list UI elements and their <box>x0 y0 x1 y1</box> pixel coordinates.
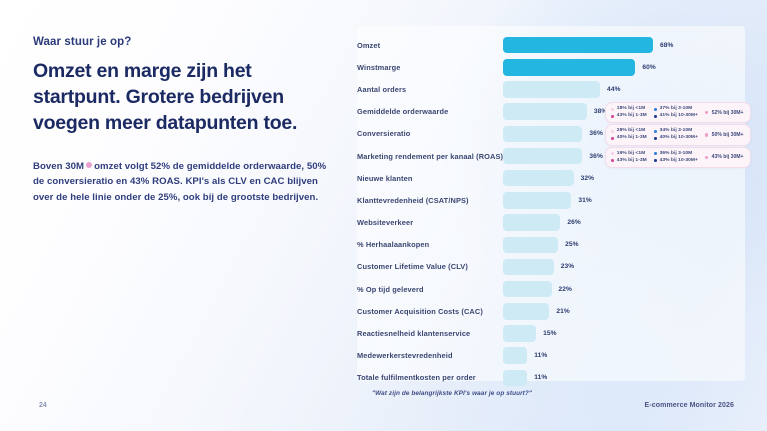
bar-area: 31% <box>503 189 745 211</box>
legend-dot-icon <box>654 115 657 118</box>
chart-row: % Op tijd geleverd22% <box>357 278 745 300</box>
bar <box>503 192 571 209</box>
bar-label: Conversieratio <box>357 129 503 138</box>
slide-text-column: Waar stuur je op? Omzet en marge zijn he… <box>33 36 333 205</box>
bar-label: Winstmarge <box>357 63 503 72</box>
bar-label: % Herhaalaankopen <box>357 240 503 249</box>
bar-label: Omzet <box>357 41 503 50</box>
bar-label: Reactiesnelheid klantenservice <box>357 329 503 338</box>
callout-segment: 18% bij <1M <box>611 106 647 112</box>
legend-dot-icon <box>611 108 614 111</box>
callout-segment: 43% bij 1-3M <box>611 158 647 164</box>
callout-segment: 40% bij 1-3M <box>611 135 647 141</box>
callout-highlight: 52% bij 30M+ <box>705 110 744 116</box>
bar <box>503 103 587 120</box>
bar-area: 68% <box>503 34 745 56</box>
chart-row: Winstmarge60% <box>357 56 745 78</box>
bar-area: 26% <box>503 212 745 234</box>
bar-label: Customer Acquisition Costs (CAC) <box>357 307 503 316</box>
bar-value-label: 36% <box>589 130 603 137</box>
callout-segment-label: 43% bij 10-30M+ <box>660 158 698 164</box>
legend-dot-icon <box>654 108 657 111</box>
footer-brand: E-commerce Monitor 2026 <box>645 402 734 409</box>
bar-label: % Op tijd geleverd <box>357 285 503 294</box>
bar-label: Medewerkerstevredenheid <box>357 351 503 360</box>
page-number: 24 <box>39 402 47 409</box>
chart-row: Customer Lifetime Value (CLV)23% <box>357 256 745 278</box>
callout-segment: 28% bij <1M <box>611 128 647 134</box>
segment-callout[interactable]: 28% bij <1M34% bij 3-10M40% bij 1-3M40% … <box>605 124 751 145</box>
callout-segment: 43% bij 1-3M <box>611 113 647 119</box>
chart-row: Klanttevredenheid (CSAT/NPS)31% <box>357 189 745 211</box>
bar <box>503 126 582 143</box>
legend-dot-icon <box>654 137 657 140</box>
legend-dot-icon <box>654 152 657 155</box>
bar-value-label: 25% <box>565 241 579 248</box>
callout-segment-label: 40% bij 10-30M+ <box>660 135 698 141</box>
bar <box>503 325 536 342</box>
callout-highlight: 50% bij 30M+ <box>705 132 744 138</box>
bar-area: 11% <box>503 367 745 389</box>
legend-dot-icon <box>654 130 657 133</box>
bar-area: 11% <box>503 345 745 367</box>
bar <box>503 59 635 76</box>
callout-highlight-label: 52% bij 30M+ <box>712 110 744 116</box>
callout-segment-label: 28% bij <1M <box>617 128 645 134</box>
bar-label: Aantal orders <box>357 85 503 94</box>
callout-segment-label: 37% bij 3-10M <box>660 106 693 112</box>
callout-segment-label: 43% bij 1-3M <box>617 113 647 119</box>
segment-callout[interactable]: 18% bij <1M37% bij 3-10M43% bij 1-3M41% … <box>605 102 751 123</box>
page-title: Omzet en marge zijn het startpunt. Grote… <box>33 59 333 137</box>
bar-area: 21% <box>503 300 745 322</box>
eyebrow-text: Waar stuur je op? <box>33 36 333 48</box>
legend-dot-icon <box>611 115 614 118</box>
legend-dot-icon <box>611 152 614 155</box>
bar-value-label: 21% <box>556 308 570 315</box>
callout-segment-label: 43% bij 1-3M <box>617 158 647 164</box>
bar-area: 44% <box>503 78 745 100</box>
bar <box>503 281 552 298</box>
callout-segment-label: 41% bij 10-30M+ <box>660 113 698 119</box>
bar <box>503 303 549 320</box>
legend-dot-icon <box>654 159 657 162</box>
callout-segment-grid: 28% bij <1M34% bij 3-10M40% bij 1-3M40% … <box>611 128 698 141</box>
callout-segment: 19% bij <1M <box>611 151 647 157</box>
bar-value-label: 31% <box>578 197 592 204</box>
chart-caption: "Wat zijn de belangrijkste KPI's waar je… <box>372 390 532 397</box>
chart-row: Nieuwe klanten32% <box>357 167 745 189</box>
chart-row: Aantal orders44% <box>357 78 745 100</box>
callout-segment-label: 19% bij <1M <box>617 151 645 157</box>
legend-dot-icon <box>705 133 708 136</box>
callout-segment: 40% bij 10-30M+ <box>654 135 698 141</box>
bar-value-label: 36% <box>589 153 603 160</box>
bar-area: 60% <box>503 56 745 78</box>
chart-row: Totale fulfilmentkosten per order11% <box>357 367 745 389</box>
chart-row: % Herhaalaankopen25% <box>357 234 745 256</box>
callout-segment: 34% bij 3-10M <box>654 128 698 134</box>
callout-segment-label: 40% bij 1-3M <box>617 135 647 141</box>
bar-chart: Omzet68%Winstmarge60%Aantal orders44%Gem… <box>357 34 745 389</box>
callout-segment: 36% bij 3-10M <box>654 151 698 157</box>
bar <box>503 259 554 276</box>
callout-highlight-label: 43% bij 30M+ <box>712 154 744 160</box>
callout-segment: 37% bij 3-10M <box>654 106 698 112</box>
bar <box>503 170 574 187</box>
bar-value-label: 15% <box>543 330 557 337</box>
bar-label: Customer Lifetime Value (CLV) <box>357 262 503 271</box>
callout-segment-label: 18% bij <1M <box>617 106 645 112</box>
bar-value-label: 32% <box>581 175 595 182</box>
callout-segment-grid: 19% bij <1M36% bij 3-10M43% bij 1-3M43% … <box>611 151 698 164</box>
bar <box>503 214 560 231</box>
bar-area: 25% <box>503 234 745 256</box>
legend-dot-icon <box>705 111 708 114</box>
bar-area: 22% <box>503 278 745 300</box>
bar-label: Websiteverkeer <box>357 218 503 227</box>
bar <box>503 81 600 98</box>
body-copy: Boven 30Momzet volgt 52% de gemiddelde o… <box>33 159 333 206</box>
bar-label: Totale fulfilmentkosten per order <box>357 373 503 382</box>
body-copy-lead: Boven 30M <box>33 161 84 172</box>
bar-value-label: 68% <box>660 42 674 49</box>
legend-dot-icon <box>611 137 614 140</box>
bar-value-label: 22% <box>559 286 573 293</box>
pink-dot-icon <box>86 162 92 168</box>
callout-highlight-label: 50% bij 30M+ <box>712 132 744 138</box>
bar-value-label: 11% <box>534 374 547 381</box>
chart-row: Omzet68% <box>357 34 745 56</box>
chart-row: Customer Acquisition Costs (CAC)21% <box>357 300 745 322</box>
bar <box>503 237 558 254</box>
callout-segment-label: 36% bij 3-10M <box>660 151 693 157</box>
bar-value-label: 44% <box>607 86 621 93</box>
bar <box>503 370 527 387</box>
bar <box>503 37 653 54</box>
legend-dot-icon <box>611 159 614 162</box>
bar-label: Klanttevredenheid (CSAT/NPS) <box>357 196 503 205</box>
legend-dot-icon <box>705 156 708 159</box>
bar-label: Marketing rendement per kanaal (ROAS) <box>357 152 503 161</box>
bar-value-label: 26% <box>567 219 581 226</box>
bar <box>503 148 582 165</box>
chart-row: Medewerkerstevredenheid11% <box>357 345 745 367</box>
legend-dot-icon <box>611 130 614 133</box>
bar-value-label: 11% <box>534 352 547 359</box>
bar-value-label: 23% <box>561 263 575 270</box>
callout-segment: 43% bij 10-30M+ <box>654 158 698 164</box>
bar-label: Gemiddelde orderwaarde <box>357 107 503 116</box>
callout-segment-grid: 18% bij <1M37% bij 3-10M43% bij 1-3M41% … <box>611 106 698 119</box>
bar-area: 23% <box>503 256 745 278</box>
callout-segment-label: 34% bij 3-10M <box>660 128 693 134</box>
bar-area: 15% <box>503 322 745 344</box>
callout-highlight: 43% bij 30M+ <box>705 154 744 160</box>
chart-card: Omzet68%Winstmarge60%Aantal orders44%Gem… <box>357 26 745 381</box>
bar-value-label: 60% <box>642 64 656 71</box>
segment-callout[interactable]: 19% bij <1M36% bij 3-10M43% bij 1-3M43% … <box>605 147 751 168</box>
chart-row: Websiteverkeer26% <box>357 212 745 234</box>
chart-row: Reactiesnelheid klantenservice15% <box>357 322 745 344</box>
bar <box>503 347 527 364</box>
callout-segment: 41% bij 10-30M+ <box>654 113 698 119</box>
bar-label: Nieuwe klanten <box>357 174 503 183</box>
bar-area: 32% <box>503 167 745 189</box>
